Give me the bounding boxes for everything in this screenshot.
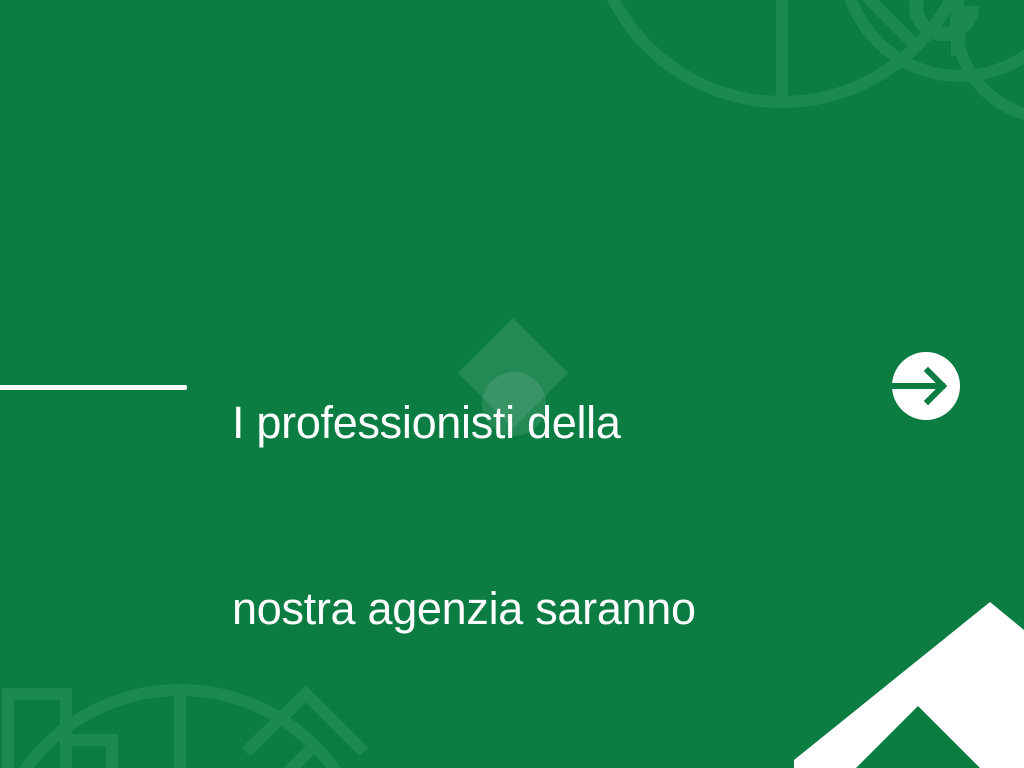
left-accent-rule	[0, 385, 187, 390]
headline-text: I professionisti della nostra agenzia sa…	[232, 268, 852, 768]
headline-line-1: I professionisti della	[232, 392, 852, 454]
arrow-right-icon[interactable]	[884, 350, 960, 422]
headline-line-2: nostra agenzia saranno	[232, 578, 852, 640]
slide-canvas: I professionisti della nostra agenzia sa…	[0, 0, 1024, 768]
headline-line-3: alleati affidabili	[232, 764, 852, 768]
next-arrow-button[interactable]	[884, 350, 960, 422]
